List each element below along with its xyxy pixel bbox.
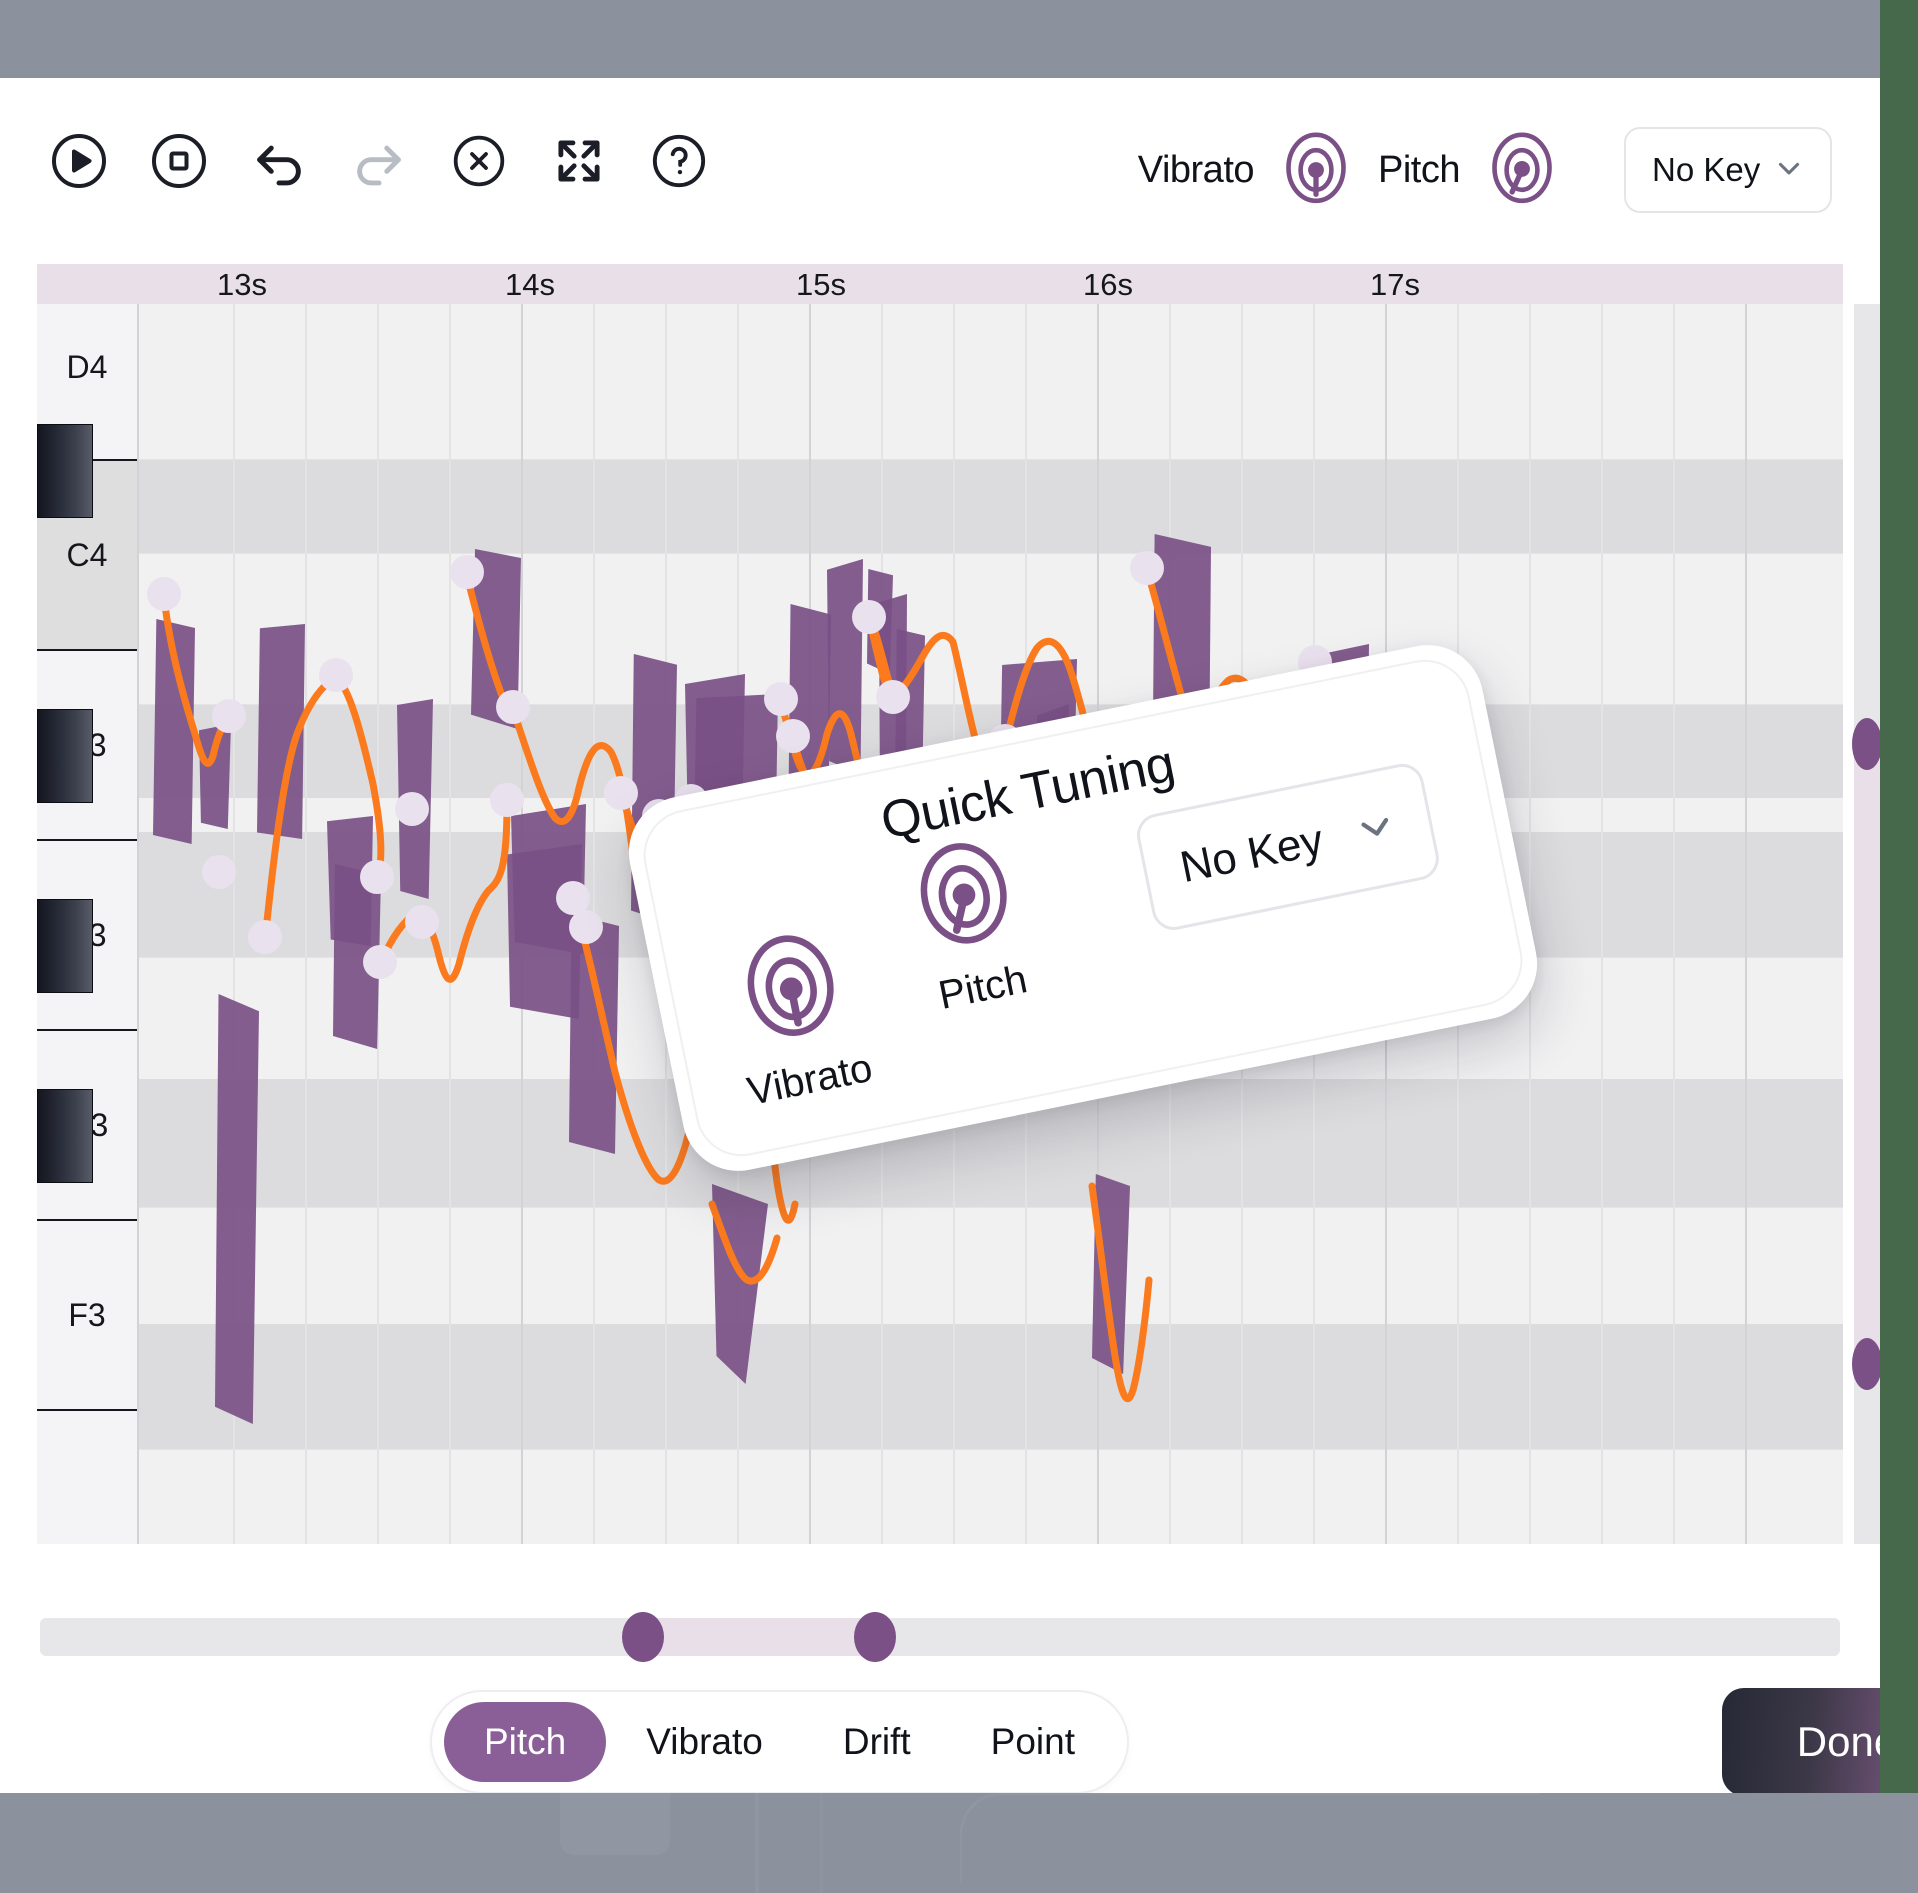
piano-keyboard[interactable]: D4 C4 B3 A3 G3 F3	[37, 304, 137, 1544]
pitch-point[interactable]	[363, 945, 397, 979]
play-icon[interactable]	[48, 130, 110, 192]
transport-controls	[48, 130, 710, 192]
pitch-point[interactable]	[202, 855, 236, 889]
ruler-tick: 13s	[217, 267, 267, 303]
pitch-point[interactable]	[212, 699, 246, 733]
pitch-point[interactable]	[450, 555, 484, 589]
bottom-chrome-panel	[960, 1793, 1540, 1883]
horizontal-scrollbar[interactable]	[40, 1618, 1840, 1656]
piano-black-key-as3[interactable]	[37, 709, 93, 803]
note-blob[interactable]	[215, 994, 259, 1424]
toolbar-pitch-label: Pitch	[1378, 149, 1460, 192]
tab-vibrato[interactable]: Vibrato	[606, 1702, 803, 1782]
pitch-point[interactable]	[360, 860, 394, 894]
ruler-tick: 17s	[1370, 267, 1420, 303]
vibrato-knob-icon[interactable]	[1272, 126, 1360, 214]
note-blob[interactable]	[153, 619, 195, 844]
pitch-point[interactable]	[852, 600, 886, 634]
vertical-scrollbar-handle-bottom[interactable]	[1852, 1338, 1880, 1390]
ruler-tick: 15s	[796, 267, 846, 303]
piano-black-key-fs3[interactable]	[37, 1089, 93, 1183]
toolbar-vibrato-label: Vibrato	[1138, 149, 1254, 192]
piano-key-label: F3	[68, 1297, 105, 1334]
clear-icon[interactable]	[448, 130, 510, 192]
pitch-knob-icon[interactable]	[1478, 126, 1566, 214]
note-blob[interactable]	[257, 624, 305, 839]
piano-key-label: D4	[67, 349, 108, 386]
fullscreen-icon[interactable]	[548, 130, 610, 192]
chevron-down-icon	[1349, 799, 1404, 858]
vertical-scrollbar[interactable]	[1854, 304, 1880, 1544]
timeline-ruler[interactable]: 13s 14s 15s 16s 17s	[37, 264, 1843, 304]
key-select-dropdown[interactable]: No Key	[1624, 127, 1832, 213]
pitch-point[interactable]	[319, 658, 353, 692]
pitch-point[interactable]	[490, 783, 524, 817]
piano-key-e3[interactable]	[37, 1411, 137, 1544]
pitch-point[interactable]	[876, 680, 910, 714]
piano-black-key-gs3[interactable]	[37, 899, 93, 993]
pitch-point[interactable]	[764, 682, 798, 716]
bottom-chrome-blob	[560, 1793, 670, 1855]
undo-icon[interactable]	[248, 130, 310, 192]
pitch-point[interactable]	[776, 719, 810, 753]
pitch-point[interactable]	[405, 905, 439, 939]
mode-tabbar: Pitch Vibrato Drift Point	[430, 1690, 1129, 1793]
pitch-point[interactable]	[569, 910, 603, 944]
bottom-chrome-divider	[755, 1793, 759, 1893]
piano-key-label: C4	[67, 537, 108, 574]
pitch-knob-icon[interactable]	[890, 822, 1039, 971]
note-blob[interactable]	[569, 914, 619, 1154]
pitch-point[interactable]	[248, 920, 282, 954]
pitch-point[interactable]	[604, 776, 638, 810]
bottom-chrome-divider	[820, 1793, 823, 1893]
tab-drift[interactable]: Drift	[803, 1702, 951, 1782]
help-icon[interactable]	[648, 130, 710, 192]
tab-point[interactable]: Point	[951, 1702, 1115, 1782]
note-blob[interactable]	[827, 559, 863, 774]
piano-black-key-cs4[interactable]	[37, 424, 93, 518]
vibrato-knob-icon[interactable]	[717, 914, 866, 1063]
note-blob[interactable]	[712, 1184, 768, 1384]
horizontal-scrollbar-handle-left[interactable]	[622, 1612, 664, 1662]
toolbar: Vibrato Pitch No Key	[0, 78, 1880, 268]
tab-pitch[interactable]: Pitch	[444, 1702, 606, 1782]
chevron-down-icon	[1772, 151, 1806, 190]
note-blob[interactable]	[1092, 1174, 1130, 1374]
window-bottom-chrome	[0, 1793, 1918, 1893]
pitch-point[interactable]	[1130, 551, 1164, 585]
key-select-value: No Key	[1652, 151, 1760, 189]
pitch-editor-app: Vibrato Pitch No Key	[0, 78, 1880, 1793]
quick-tuning-controls: Vibrato Pitch No Key	[1138, 126, 1832, 214]
tooltip-key-select-value: No Key	[1176, 815, 1327, 893]
vertical-scrollbar-track[interactable]	[1854, 744, 1880, 1364]
done-button[interactable]: Done	[1722, 1688, 1880, 1793]
stop-icon[interactable]	[148, 130, 210, 192]
piano-key-f3[interactable]: F3	[37, 1221, 137, 1411]
vertical-scrollbar-handle-top[interactable]	[1852, 718, 1880, 770]
pitch-point[interactable]	[496, 690, 530, 724]
note-blob[interactable]	[199, 724, 231, 829]
window-right-chrome	[1880, 0, 1918, 1893]
window-top-chrome	[0, 0, 1918, 78]
ruler-tick: 14s	[505, 267, 555, 303]
pitch-point[interactable]	[395, 792, 429, 826]
horizontal-scrollbar-track[interactable]	[640, 1618, 875, 1656]
ruler-tick: 16s	[1083, 267, 1133, 303]
pitch-point[interactable]	[147, 577, 181, 611]
redo-icon[interactable]	[348, 130, 410, 192]
horizontal-scrollbar-handle-right[interactable]	[854, 1612, 896, 1662]
